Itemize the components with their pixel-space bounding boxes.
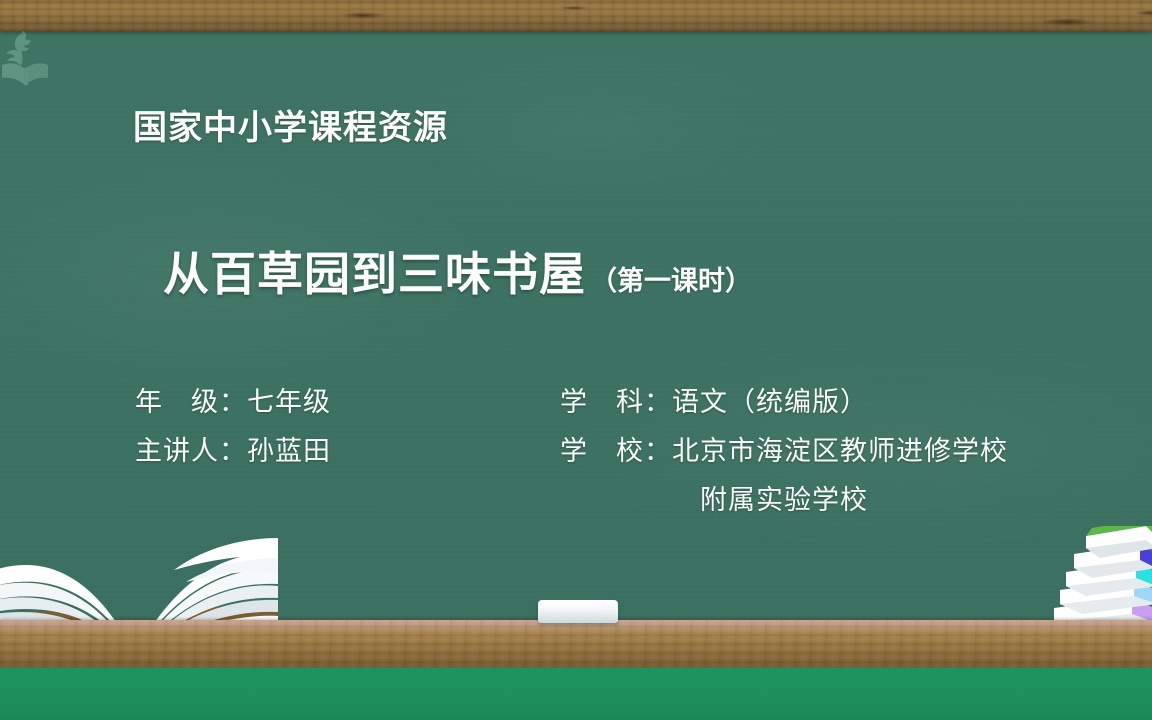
school-value-continuation: 附属实验学校 <box>700 476 868 525</box>
chalk-tray-ledge <box>0 620 1152 672</box>
open-book-leaf-logo-icon <box>0 29 54 87</box>
grade-label-value: 年 级：七年级 <box>135 378 331 427</box>
chalk-eraser-icon <box>538 600 618 623</box>
bottom-green-band <box>0 668 1152 720</box>
page-title: 从百草园到三味书屋 （第一课时） <box>163 238 752 304</box>
wood-knot <box>560 6 588 10</box>
lesson-title-slide: 国家中小学课程资源 从百草园到三味书屋 （第一课时） 年 级：七年级 学 科：语… <box>0 0 1152 720</box>
teacher-label-value: 主讲人：孙蓝田 <box>135 427 331 476</box>
subject-label-value: 学 科：语文（统编版） <box>560 378 868 427</box>
wood-knot <box>1135 10 1152 16</box>
school-label-value: 学 校：北京市海淀区教师进修学校 <box>560 427 1008 476</box>
lesson-title-session: （第一课时） <box>590 259 752 298</box>
lesson-title-main: 从百草园到三味书屋 <box>163 238 586 304</box>
wood-knot <box>1040 18 1094 26</box>
wooden-top-frame <box>0 0 1152 31</box>
organization-title: 国家中小学课程资源 <box>133 100 448 149</box>
wood-knot <box>340 12 386 19</box>
